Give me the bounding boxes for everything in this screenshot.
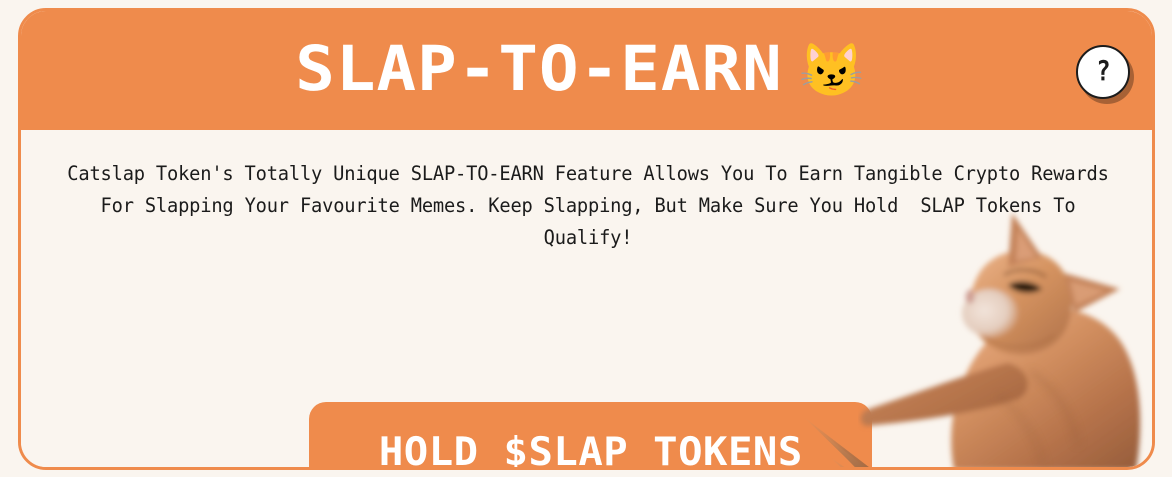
page-title: SLAP-TO-EARN xyxy=(295,38,783,100)
help-button[interactable]: ? xyxy=(1076,45,1130,99)
card-header: SLAP-TO-EARN 😼 ? xyxy=(21,11,1152,130)
cta-line-1: HOLD $SLAP TOKENS xyxy=(379,433,803,470)
hold-slap-tokens-button[interactable]: HOLD $SLAP TOKENS TO TAKE PART xyxy=(309,402,872,470)
slap-to-earn-card: SLAP-TO-EARN 😼 ? Catslap Token's Totally… xyxy=(18,8,1155,470)
card-body: Catslap Token's Totally Unique SLAP-TO-E… xyxy=(21,130,1152,470)
cat-with-wry-smile-emoji: 😼 xyxy=(799,45,864,97)
slap-to-earn-panel: SLAP-TO-EARN 😼 ? Catslap Token's Totally… xyxy=(0,0,1172,477)
question-mark-icon: ? xyxy=(1096,57,1110,85)
title-row: SLAP-TO-EARN 😼 xyxy=(309,38,864,100)
description-text: Catslap Token's Totally Unique SLAP-TO-E… xyxy=(67,158,1110,254)
